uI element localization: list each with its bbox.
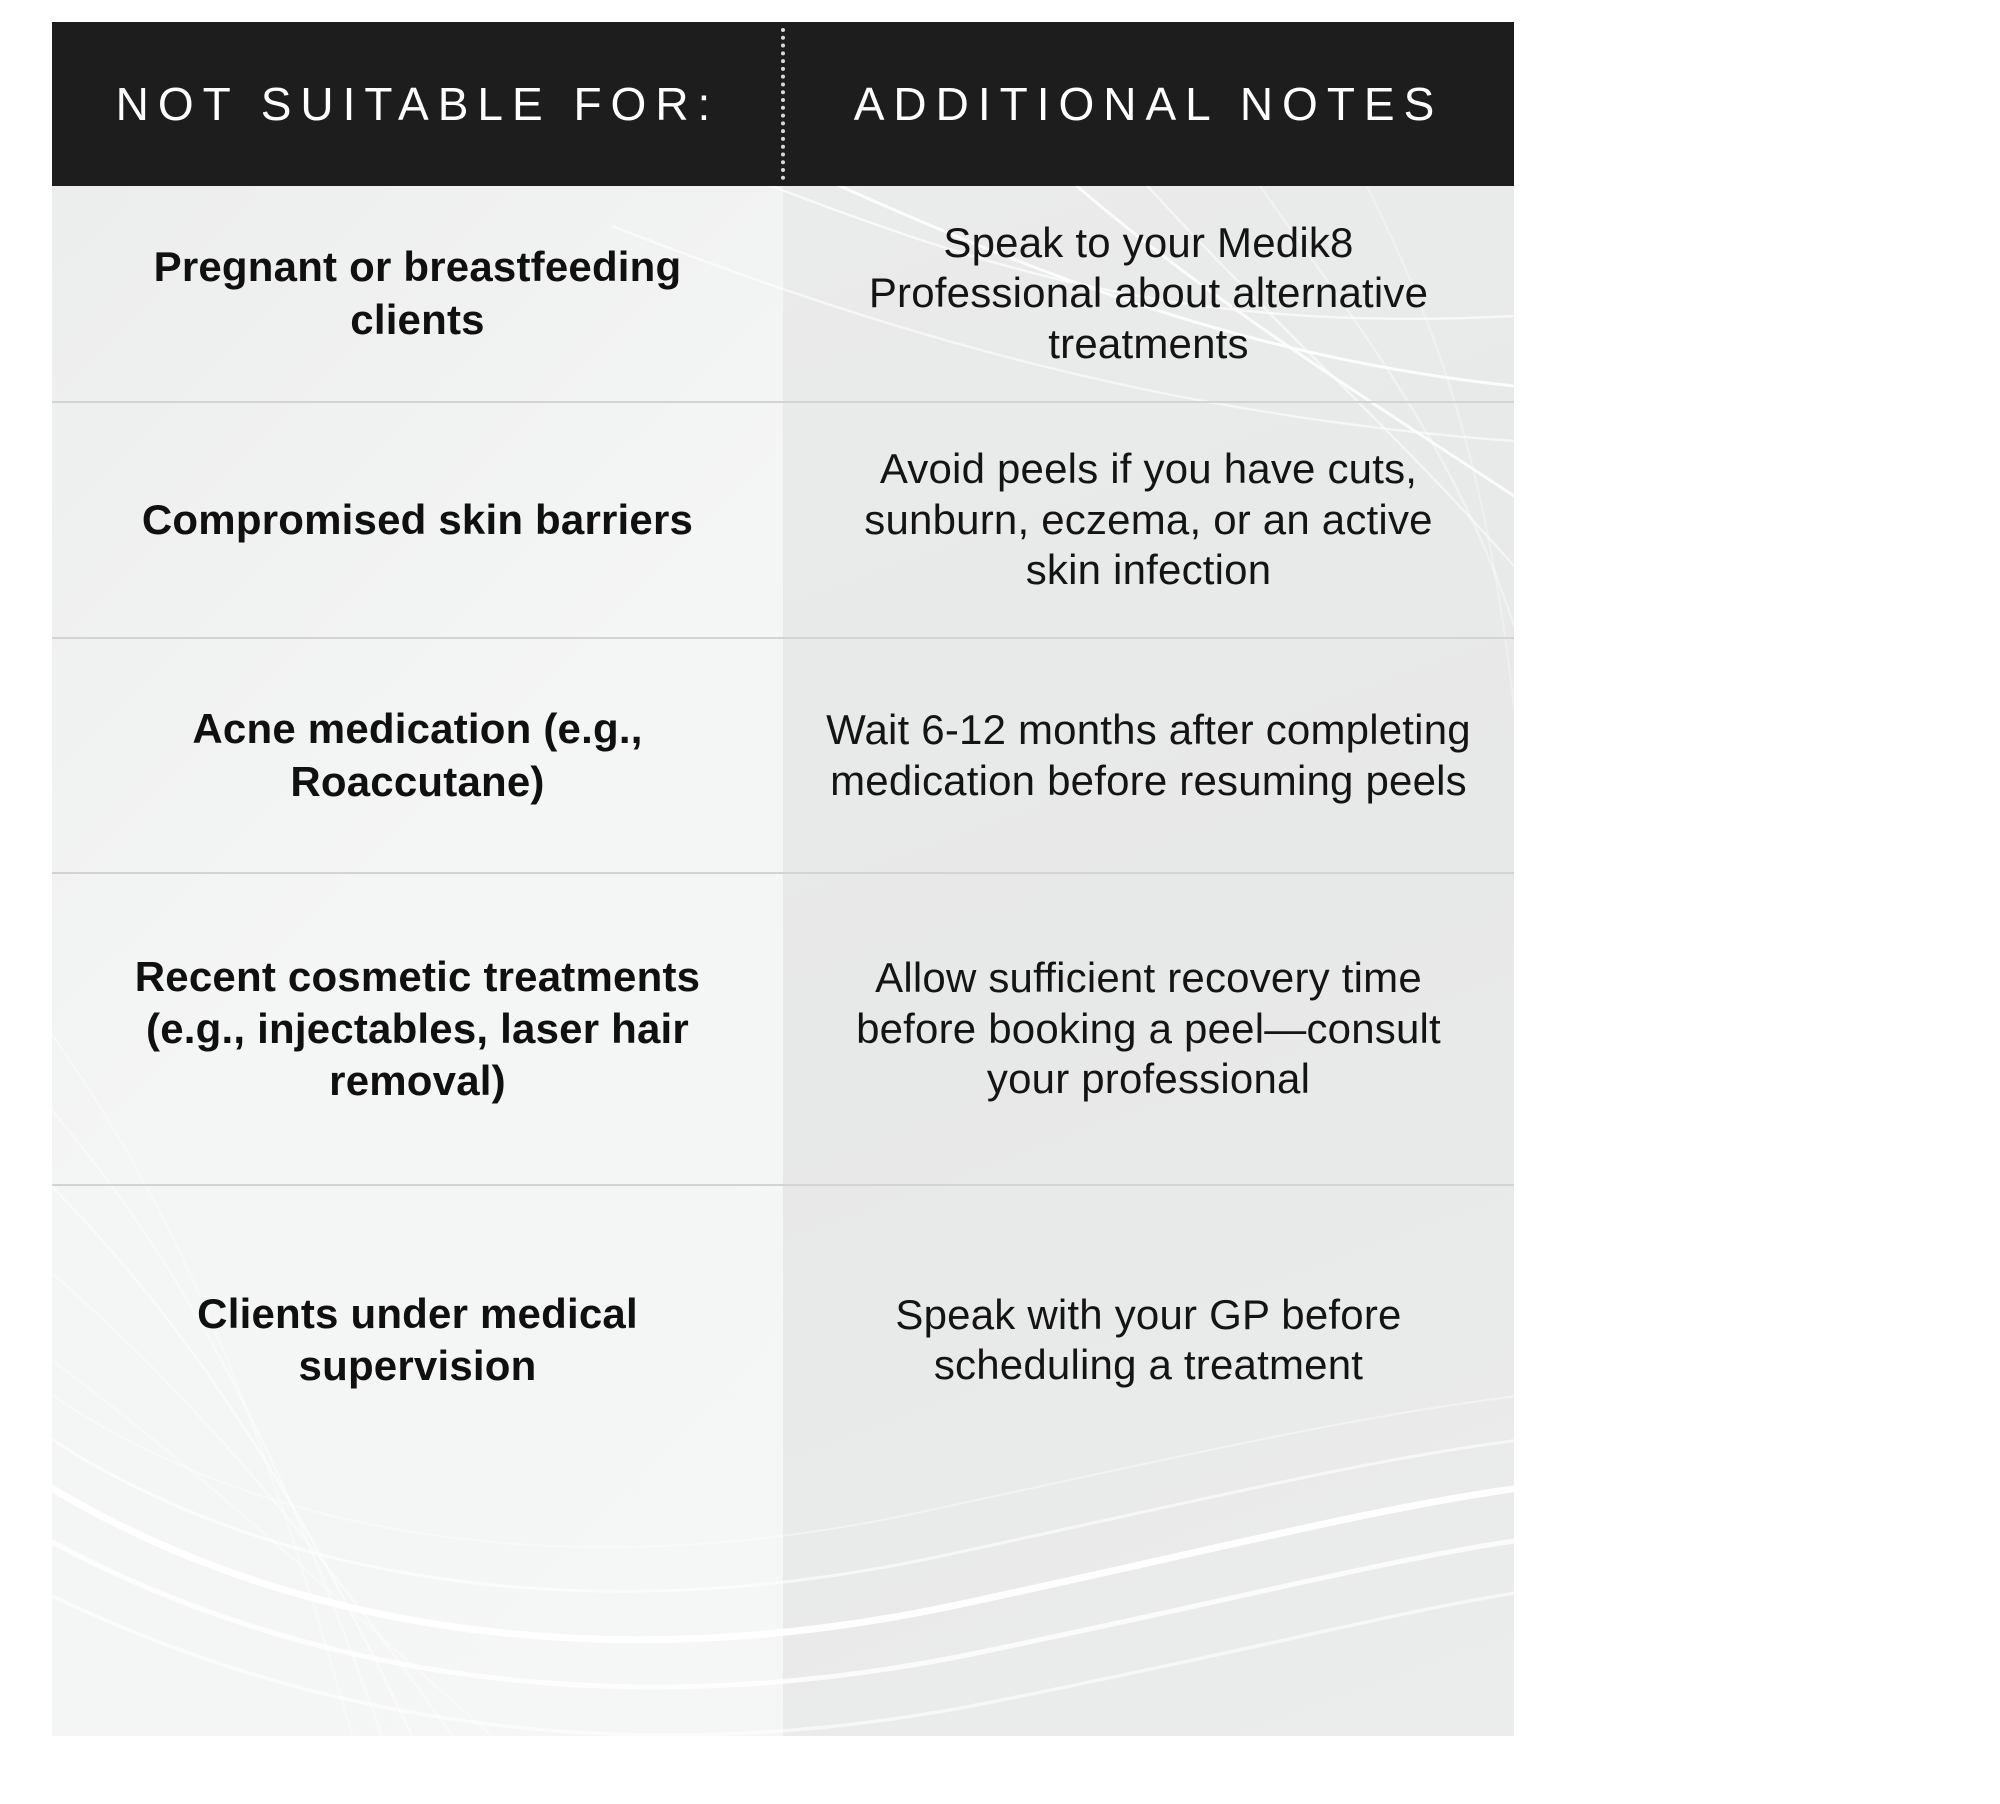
header-dotted-divider — [781, 28, 785, 180]
table-body: Pregnant or breastfeeding clients Speak … — [52, 186, 1514, 1736]
table-header-row: NOT SUITABLE FOR: ADDITIONAL NOTES — [52, 22, 1514, 186]
not-suitable-for-table: NOT SUITABLE FOR: ADDITIONAL NOTES — [52, 22, 1514, 1736]
note-cell: Avoid peels if you have cuts, sunburn, e… — [783, 403, 1514, 637]
column-header-not-suitable-for: NOT SUITABLE FOR: — [52, 22, 783, 186]
condition-cell: Compromised skin barriers — [52, 403, 783, 637]
table-rows: Pregnant or breastfeeding clients Speak … — [52, 186, 1514, 1736]
table-row: Pregnant or breastfeeding clients Speak … — [52, 186, 1514, 401]
note-cell: Wait 6-12 months after completing medica… — [783, 639, 1514, 872]
condition-cell: Pregnant or breastfeeding clients — [52, 186, 783, 401]
condition-cell: Recent cosmetic treatments (e.g., inject… — [52, 874, 783, 1184]
table-row: Clients under medical supervision Speak … — [52, 1184, 1514, 1494]
note-cell: Speak to your Medik8 Professional about … — [783, 186, 1514, 401]
condition-cell: Acne medication (e.g., Roaccutane) — [52, 639, 783, 872]
condition-cell: Clients under medical supervision — [52, 1186, 783, 1494]
comparison-table-page: NOT SUITABLE FOR: ADDITIONAL NOTES — [0, 0, 2000, 1804]
table-row: Recent cosmetic treatments (e.g., inject… — [52, 872, 1514, 1184]
table-row: Acne medication (e.g., Roaccutane) Wait … — [52, 637, 1514, 872]
note-cell: Speak with your GP before scheduling a t… — [783, 1186, 1514, 1494]
table-row: Compromised skin barriers Avoid peels if… — [52, 401, 1514, 637]
column-header-additional-notes: ADDITIONAL NOTES — [783, 22, 1514, 186]
note-cell: Allow sufficient recovery time before bo… — [783, 874, 1514, 1184]
